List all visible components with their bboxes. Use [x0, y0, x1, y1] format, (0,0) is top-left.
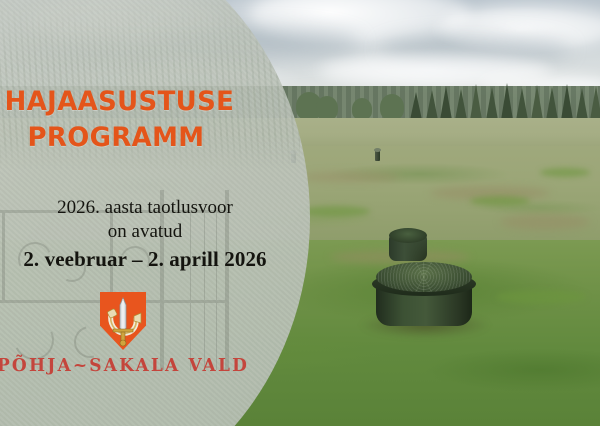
tree — [380, 94, 404, 120]
grass-tuft — [300, 206, 370, 217]
small-septic-tank-cover — [389, 228, 427, 262]
dirt-patch — [500, 214, 590, 230]
grass-tuft — [496, 290, 586, 304]
headline-line-2: PROGRAMM — [5, 120, 228, 156]
municipality-name: PÕHJA~SAKALA VALD — [0, 356, 249, 376]
field-marker-post — [375, 150, 380, 161]
page-title: HAJAASUSTUSE PROGRAMM — [5, 84, 228, 156]
grass-tuft — [470, 196, 530, 206]
poster-canvas: HAJAASUSTUSE PROGRAMM 2026. aasta taotlu… — [0, 0, 600, 426]
poster-content: HAJAASUSTUSE PROGRAMM 2026. aasta taotlu… — [0, 0, 300, 426]
announcement-line-2: on avatud — [0, 220, 290, 244]
municipality-logo: PÕHJA~SAKALA VALD — [0, 292, 246, 376]
announcement-text: 2026. aasta taotlusvoor on avatud 2. vee… — [0, 196, 290, 274]
grass-tuft — [540, 168, 590, 177]
dirt-patch — [300, 172, 400, 182]
tree — [352, 98, 372, 120]
large-septic-tank-cover — [372, 258, 476, 330]
coat-of-arms-icon — [100, 292, 146, 350]
tree — [316, 96, 338, 120]
application-period-dates: 2. veebruar – 2. aprill 2026 — [0, 244, 290, 274]
headline-line-1: HAJAASUSTUSE — [5, 84, 228, 120]
announcement-line-1: 2026. aasta taotlusvoor — [0, 196, 290, 220]
